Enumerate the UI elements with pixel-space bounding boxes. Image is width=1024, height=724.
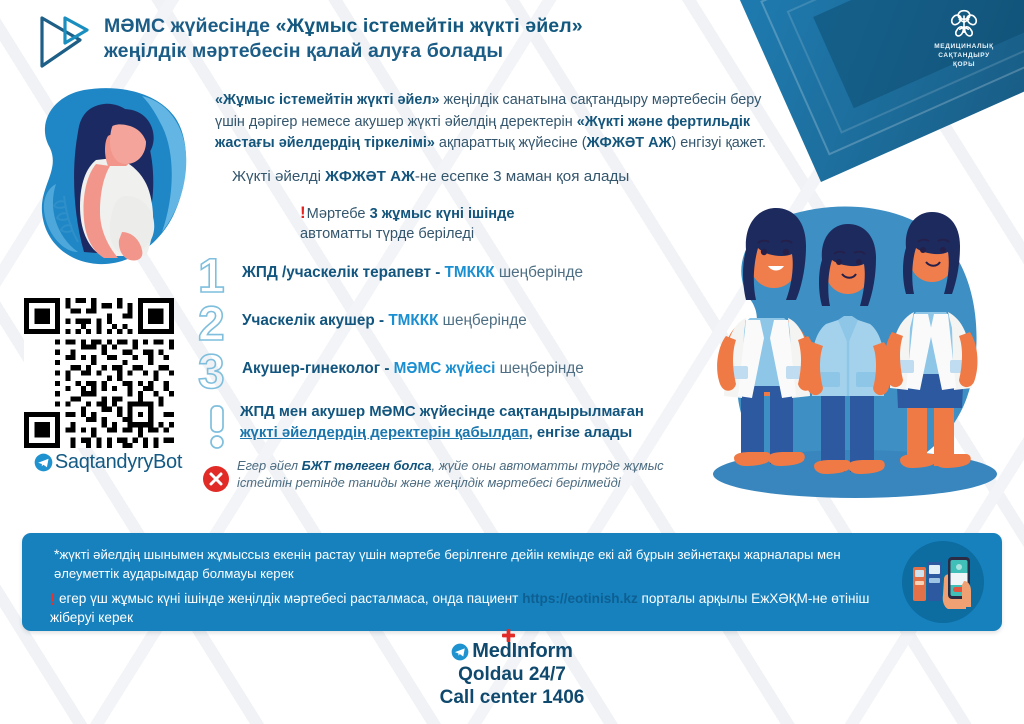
banner-note-2: ! егер үш жұмыс күні ішінде жеңілдік мәр… [50,589,880,627]
step-number-1: 1 [196,252,242,305]
brand-logo: МЕДИЦИНАЛЫҚ САҚТАНДЫРУ ҚОРЫ [916,6,1012,69]
step-2-highlight: ТМККК [388,312,438,329]
bottom-banner: *жүкті әйелдің шынымен жұмыссыз екенін р… [22,533,1002,631]
brand-logo-line-1: МЕДИЦИНАЛЫҚ [916,42,1012,51]
step-number-glyph: 2 [198,300,225,348]
step-text-1: ЖПД /учаскелік терапевт - ТМККК шеңберін… [242,252,583,282]
exclaim-note-line1: ЖПД мен акушер МӘМС жүйесінде сақтандыры… [240,402,644,423]
step-3-highlight: МӘМС жүйесі [394,360,496,377]
step-2-rest: шеңберінде [438,312,526,329]
step-item: 2 Учаскелік акушер - ТМККК шеңберінде [196,300,756,348]
qr-code-image[interactable] [24,298,174,448]
prohibition-b: БЖТ төлеген болса [302,458,432,473]
intro-second-b: ЖФЖӘТ АЖ [325,168,415,185]
step-item: 1 ЖПД /учаскелік терапевт - ТМККК шеңбер… [196,252,756,300]
banner-note-1: *жүкті әйелдің шынымен жұмыссыз екенін р… [54,545,874,583]
step-1-rest: шеңберінде [495,264,583,281]
auto-status-note-line1: !Мәртебе 3 жұмыс күні ішінде [300,203,514,224]
page-title: МӘМС жүйесінде «Жұмыс істемейтін жүкті ә… [104,14,583,64]
page-title-line2: жеңілдік мәртебесін қалай алуға болады [104,39,583,64]
medical-cross-icon [502,629,515,642]
prohibition-a: Егер әйел [237,458,302,473]
auto-status-note: !Мәртебе 3 жұмыс күні ішінде автоматты т… [300,203,514,244]
intro-term-3: ЖФЖӘТ АЖ [587,135,672,151]
brand-logo-line-2: САҚТАНДЫРУ [916,51,1012,60]
footer: MedInform Qoldau 24/7 Call center 1406 [0,640,1024,709]
red-x-icon [203,458,237,497]
eotinish-link[interactable]: https://eotinish.kz [522,591,638,606]
auto-note-a: Мәртебе [307,206,370,222]
telegram-icon [451,643,469,661]
intro-second-c: -не есепке 3 маман қоя алады [415,168,629,185]
step-3-bold: Акушер-гинеколог - [242,360,394,377]
auto-note-b: 3 жұмыс күні ішінде [370,206,515,222]
intro-paragraph-p2: Жүкті әйелді ЖФЖӘТ АЖ-не есепке 3 маман … [215,166,780,188]
intro-paragraph-p1: «Жұмыс істемейтін жүкті әйел» жеңілдік с… [215,90,780,155]
page-title-line1-prefix: МӘМС жүйесінде [104,15,276,37]
step-1-highlight: ТМККК [445,264,495,281]
step-2-bold: Учаскелік акушер - [242,312,388,329]
doctors-illustration [690,196,1010,531]
step-number-3: 3 [196,348,242,401]
step-number-2: 2 [196,300,242,353]
banner-exclamation-icon: ! [50,590,56,609]
infographic-poster: МЕДИЦИНАЛЫҚ САҚТАНДЫРУ ҚОРЫ МӘМС жүйесін… [0,0,1024,724]
step-text-2: Учаскелік акушер - ТМККК шеңберінде [242,300,527,330]
steps-list: 1 ЖПД /учаскелік терапевт - ТМККК шеңбер… [196,252,756,396]
footer-callcenter: Call center 1406 [0,687,1024,709]
step-1-bold: ЖПД /учаскелік терапевт - [242,264,445,281]
brand-logo-line-3: ҚОРЫ [916,60,1012,69]
play-triangle-logo-icon [38,14,90,70]
step-item: 3 Акушер-гинеколог - МӘМС жүйесі шеңбері… [196,348,756,396]
step-number-glyph: 3 [198,348,225,396]
intro-paragraph: «Жұмыс істемейтін жүкті әйел» жеңілдік с… [215,90,780,187]
banner-note-1-text: жүкті әйелдің шынымен жұмыссыз екенін ра… [54,547,841,581]
footer-brand: MedInform [0,640,1024,663]
auto-status-note-line2: автоматты түрде беріледі [300,224,514,244]
prohibition-note: Егер әйел БЖТ төлеген болса, жүйе оны ав… [203,458,707,497]
flower-logo-icon [947,6,981,40]
hand-holding-phone-icon [910,551,976,613]
exclaim-note: ЖПД мен акушер МӘМС жүйесінде сақтандыры… [200,402,644,455]
intro-term-1: «Жұмыс істемейтін жүкті әйел» [215,92,440,108]
banner-note-2-body: егер үш жұмыс күні ішінде жеңілдік мәрте… [50,591,869,625]
page-title-line1-emph: «Жұмыс істемейтін жүкті әйел» [276,15,583,37]
step-text-3: Акушер-гинеколог - МӘМС жүйесі шеңберінд… [242,348,584,378]
pregnant-woman-illustration [22,80,197,281]
footer-qoldau: Qoldau 24/7 [0,664,1024,686]
prohibition-note-text: Егер әйел БЖТ төлеген болса, жүйе оны ав… [237,458,707,491]
exclaim-outline-icon [200,402,240,455]
exclaim-note-line2-rest: , енгізе алады [529,425,633,441]
telegram-bot-handle[interactable]: SaqtandyryBot [24,451,192,474]
footer-brand-text: MedInform [472,640,572,662]
exclamation-icon: ! [300,203,306,222]
phone-illustration [902,541,984,623]
telegram-icon [34,453,53,472]
banner-note-2-a: егер үш жұмыс күні ішінде жеңілдік мәрте… [59,591,522,606]
step-3-rest: шеңберінде [495,360,583,377]
page-header: МӘМС жүйесінде «Жұмыс істемейтін жүкті ә… [38,14,738,70]
intro-text-3: ) енгізуі қажет. [671,135,765,151]
exclaim-note-text: ЖПД мен акушер МӘМС жүйесінде сақтандыры… [240,402,644,443]
exclaim-note-line2-underlined: жүкті әйелдердің деректерін қабылдап [240,425,529,441]
step-number-glyph: 1 [198,252,225,300]
intro-text-2: ақпараттық жүйесіне ( [435,135,587,151]
intro-second-a: Жүкті әйелді [232,168,325,185]
bot-handle-text: SaqtandyryBot [55,451,182,474]
qr-code-block[interactable]: SaqtandyryBot [24,298,192,474]
exclaim-note-line2: жүкті әйелдердің деректерін қабылдап, ен… [240,423,644,444]
